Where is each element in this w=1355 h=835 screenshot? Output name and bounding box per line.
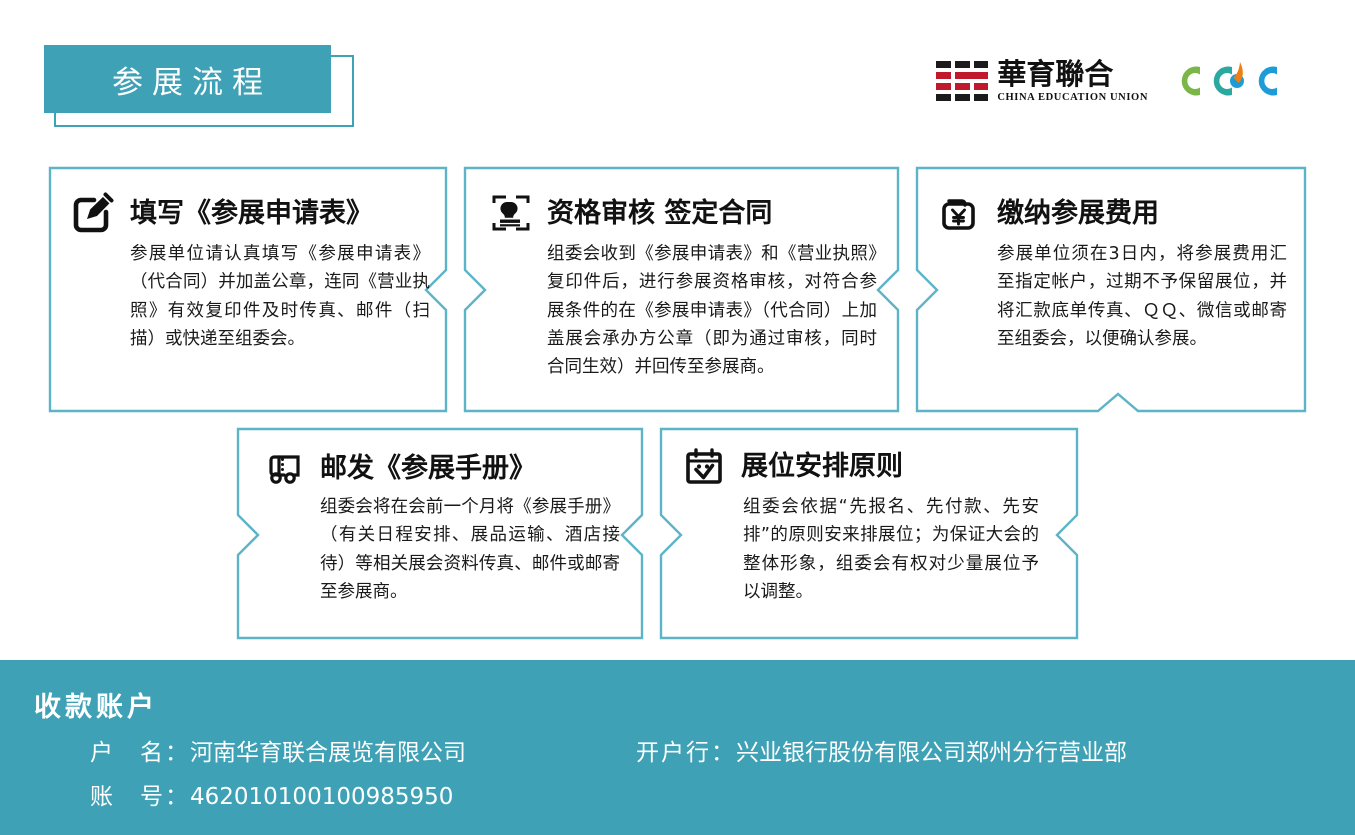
step-card-5-header: 展位安排原则 <box>681 443 903 489</box>
step-card-2-header: 资格审核 签定合同 <box>487 190 772 236</box>
page-title: 参展流程 <box>103 57 272 102</box>
step-card-3-body: 参展单位须在3日内，将参展费用汇至指定帐户，过期不予保留展位，并将汇款底单传真、… <box>997 240 1287 353</box>
exhibition-process-infographic: 参展流程 華育聯合 CHINA EDUCATION UNION <box>0 0 1355 835</box>
money-yen-icon <box>937 190 983 236</box>
logo-chinese-name: 華育聯合 <box>997 60 1148 89</box>
step-card-3-title: 缴纳参展费用 <box>997 200 1159 227</box>
account-name-value: 河南华育联合展览有限公司 <box>190 740 466 766</box>
payment-account-footer: 收款账户 户 名：河南华育联合展览有限公司 开户行：兴业银行股份有限公司郑州分行… <box>0 660 1355 835</box>
account-number-value: 462010100100985950 <box>190 784 453 810</box>
china-education-union-logo: 華育聯合 CHINA EDUCATION UNION <box>936 60 1148 103</box>
step-card-1: 填写《参展申请表》 参展单位请认真填写《参展申请表》（代合同）并加盖公章，连同《… <box>48 166 448 413</box>
bank-row: 开户行：兴业银行股份有限公司郑州分行营业部 <box>636 733 1127 767</box>
step-card-2-title: 资格审核 签定合同 <box>547 200 772 227</box>
step-card-3: 缴纳参展费用 参展单位须在3日内，将参展费用汇至指定帐户，过期不予保留展位，并将… <box>915 166 1307 413</box>
step-card-1-body: 参展单位请认真填写《参展申请表》（代合同）并加盖公章，连同《营业执照》有效复印件… <box>130 240 430 353</box>
step-card-1-title: 填写《参展申请表》 <box>130 200 373 227</box>
step-card-4: 邮发《参展手册》 组委会将在会前一个月将《参展手册》（有关日程安排、展品运输、酒… <box>236 427 644 640</box>
logo-group: 華育聯合 CHINA EDUCATION UNION <box>936 58 1295 104</box>
edit-document-icon <box>70 190 116 236</box>
step-card-2-body: 组委会收到《参展申请表》和《营业执照》复印件后，进行参展资格审核，对符合参展条件… <box>547 240 877 382</box>
step-card-4-header: 邮发《参展手册》 <box>260 445 536 491</box>
cec-logo <box>1170 58 1295 104</box>
step-card-5: 展位安排原则 组委会依据“先报名、先付款、先安排”的原则安来排展位；为保证大会的… <box>659 427 1079 640</box>
delivery-truck-icon <box>260 445 306 491</box>
step-card-3-header: 缴纳参展费用 <box>937 190 1159 236</box>
footer-title: 收款账户 <box>34 685 158 724</box>
step-card-4-title: 邮发《参展手册》 <box>320 455 536 482</box>
step-card-5-title: 展位安排原则 <box>741 453 903 480</box>
account-number-label: 账 号： <box>90 784 190 810</box>
account-name-label: 户 名： <box>90 740 190 766</box>
bank-value: 兴业银行股份有限公司郑州分行营业部 <box>736 740 1127 766</box>
bars-mark-icon <box>936 61 988 101</box>
title-block: 参展流程 <box>44 45 331 113</box>
stamp-seal-icon <box>487 190 533 236</box>
account-name-row: 户 名：河南华育联合展览有限公司 <box>90 733 466 767</box>
account-number-row: 账 号：462010100100985950 <box>90 777 453 811</box>
bank-label: 开户行： <box>636 740 736 766</box>
cec-logo-mark <box>1170 58 1295 104</box>
step-card-5-body: 组委会依据“先报名、先付款、先安排”的原则安来排展位；为保证大会的整体形象，组委… <box>743 493 1039 606</box>
step-card-2: 资格审核 签定合同 组委会收到《参展申请表》和《营业执照》复印件后，进行参展资格… <box>463 166 900 413</box>
step-card-1-header: 填写《参展申请表》 <box>70 190 373 236</box>
logo-english-name: CHINA EDUCATION UNION <box>997 92 1148 103</box>
page-title-banner: 参展流程 <box>44 45 354 127</box>
calendar-check-icon <box>681 443 727 489</box>
step-card-4-body: 组委会将在会前一个月将《参展手册》（有关日程安排、展品运输、酒店接待）等相关展会… <box>320 493 620 606</box>
